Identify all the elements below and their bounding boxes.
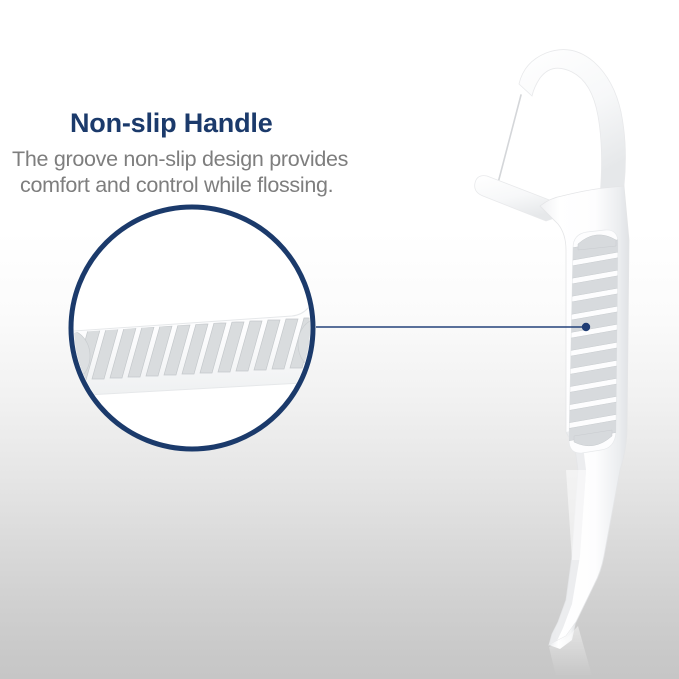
page-title: Non-slip Handle [70,108,273,139]
product-infographic: Non-slip Handle The groove non-slip desi… [0,0,679,679]
subtitle-line-1: The groove non-slip design provides [12,146,432,172]
subtitle-line-2: comfort and control while flossing. [12,172,432,198]
illustration-layer [0,0,679,679]
page-subtitle: The groove non-slip design provides comf… [12,146,432,198]
dental-floss-pick [475,50,630,676]
floss-string [498,95,521,183]
magnifier-callout [20,207,344,449]
floss-fork-upper-prong [519,50,625,196]
leader-dot [582,323,590,331]
